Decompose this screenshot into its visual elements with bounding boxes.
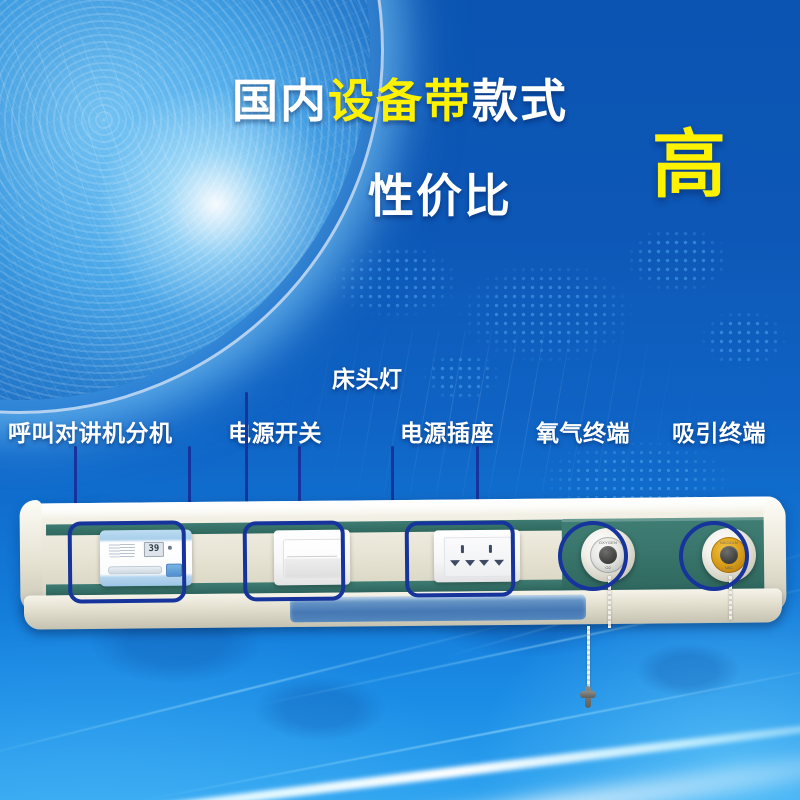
headline-line1-highlight: 设备带 (328, 75, 472, 127)
highlight-box-power-socket (405, 520, 516, 597)
highlight-circle-oxygen (558, 521, 628, 591)
headline-line1-part3: 款式 (472, 75, 568, 127)
highlight-box-power-switch (243, 521, 346, 602)
callout-label-suction-terminal: 吸引终端 (672, 414, 766, 448)
headline-line-1: 国内设备带款式 (0, 78, 800, 124)
callout-label-power-switch: 电源开关 (228, 414, 322, 448)
highlight-box-intercom (68, 520, 187, 603)
highlight-circle-suction (679, 521, 749, 591)
callout-label-power-socket: 电源插座 (400, 414, 494, 448)
callout-label-intercom: 呼叫对讲机分机 (8, 414, 173, 448)
callout-label-oxygen-terminal: 氧气终端 (536, 414, 630, 448)
headline-block: 国内设备带款式 性价比 高 (0, 78, 800, 222)
pull-cord-handle[interactable] (580, 686, 596, 708)
headline-line-2: 性价比 (368, 160, 512, 226)
headline-accent-word: 高 (652, 128, 726, 202)
nurse-call-pull-cord[interactable] (587, 626, 590, 690)
promo-banner: 国内设备带款式 性价比 高 呼叫对讲机分机 电源开关 床头灯 电源插座 氧气终端… (0, 0, 800, 800)
headline-line1-part1: 国内 (232, 75, 328, 127)
callout-label-bed-lamp: 床头灯 (332, 360, 403, 394)
